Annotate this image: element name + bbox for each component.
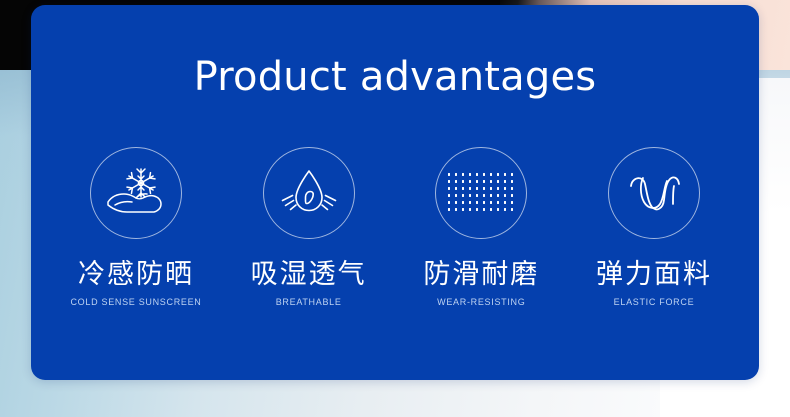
- icon-ring: [435, 147, 527, 239]
- elastic-wave-icon: [623, 164, 685, 222]
- feature-title: 吸湿透气: [251, 260, 367, 290]
- feature-list: 冷感防晒 COLD SENSE SUNSCREEN: [53, 147, 737, 307]
- hand-snowflake-icon: [105, 164, 167, 222]
- feature-title: 冷感防晒: [78, 260, 194, 290]
- feature-subtitle: WEAR-RESISTING: [437, 297, 525, 307]
- icon-ring: [90, 147, 182, 239]
- icon-ring: [608, 147, 700, 239]
- page-root: Product advantages: [0, 0, 790, 417]
- feature-subtitle: ELASTIC FORCE: [614, 297, 695, 307]
- product-advantages-card: Product advantages: [31, 5, 759, 380]
- page-title: Product advantages: [31, 57, 759, 97]
- feature-title: 弹力面料: [596, 260, 712, 290]
- feature-title: 防滑耐磨: [423, 260, 539, 290]
- feature-item-cold-sense-sunscreen[interactable]: 冷感防晒 COLD SENSE SUNSCREEN: [53, 147, 219, 307]
- water-droplet-splash-icon: [278, 164, 340, 222]
- icon-ring: [263, 147, 355, 239]
- feature-item-wear-resisting[interactable]: 防滑耐磨 WEAR-RESISTING: [398, 147, 564, 307]
- feature-subtitle: COLD SENSE SUNSCREEN: [70, 297, 201, 307]
- feature-item-breathable[interactable]: 吸湿透气 BREATHABLE: [226, 147, 392, 307]
- dot-grid-texture-icon: [448, 173, 515, 212]
- feature-item-elastic-force[interactable]: 弹力面料 ELASTIC FORCE: [571, 147, 737, 307]
- feature-subtitle: BREATHABLE: [276, 297, 342, 307]
